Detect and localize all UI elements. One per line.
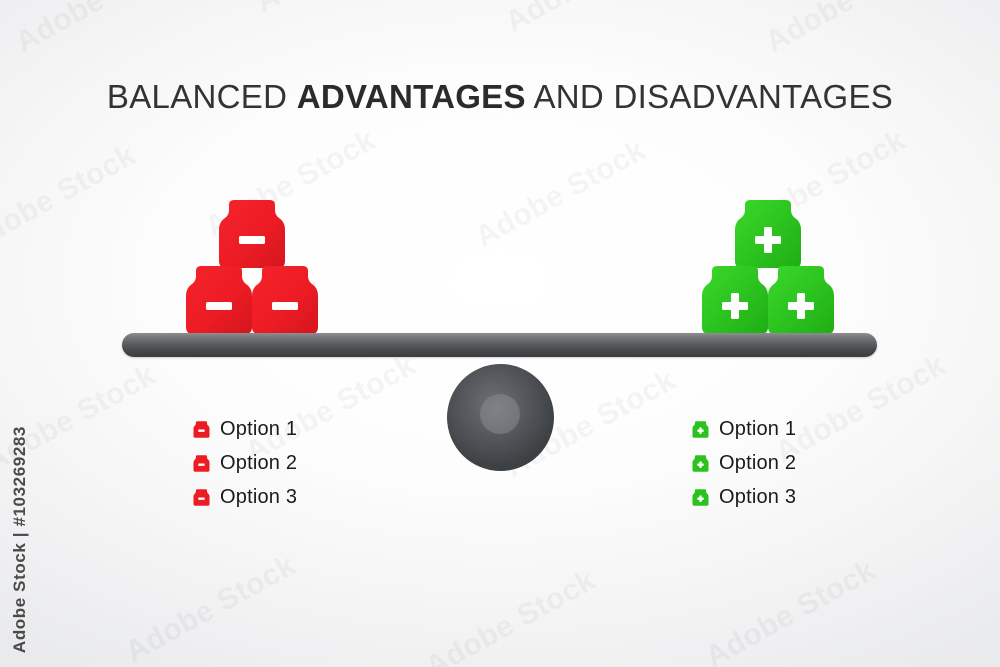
- disadvantages-weight-stack: [184, 200, 320, 334]
- watermark-tile: Adobe Stock: [10, 0, 192, 60]
- legend-item-label: Option 1: [220, 418, 297, 441]
- watermark-tile: Adobe Stock: [250, 0, 432, 20]
- stock-credit-watermark: Adobe Stock | #103269283: [10, 426, 30, 653]
- weight-minus-icon: [193, 455, 210, 472]
- legend-item[interactable]: Option 3: [193, 480, 297, 514]
- title-emphasis: ADVANTAGES: [297, 78, 526, 115]
- title-tail: AND DISADVANTAGES: [526, 78, 893, 115]
- weight-block-plus-bottom-right[interactable]: [766, 266, 836, 334]
- balance-beam: [122, 333, 877, 357]
- disadvantages-legend: Option 1 Option 2 Option 3: [193, 412, 297, 514]
- watermark-tile: Adobe Stock: [700, 553, 882, 667]
- fulcrum-core: [480, 394, 520, 434]
- weight-plus-icon: [692, 455, 709, 472]
- watermark-tile: Adobe Stock: [420, 563, 602, 667]
- weight-minus-icon: [193, 421, 210, 438]
- weight-block-minus-bottom-left[interactable]: [184, 266, 254, 334]
- weight-block-minus-top[interactable]: [217, 200, 287, 268]
- weight-block-minus-bottom-right[interactable]: [250, 266, 320, 334]
- watermark-tile: Adobe Stock: [500, 0, 682, 40]
- infographic-canvas: Adobe Stock Adobe Stock Adobe Stock Adob…: [0, 0, 1000, 667]
- legend-item-label: Option 2: [220, 452, 297, 475]
- watermark-tile: Adobe Stock: [120, 548, 302, 667]
- watermark-tile: Adobe Stock: [770, 348, 952, 469]
- legend-item-label: Option 3: [719, 486, 796, 509]
- legend-item[interactable]: Option 2: [692, 446, 796, 480]
- watermark-tile: Adobe Stock: [470, 133, 652, 254]
- legend-item-label: Option 3: [220, 486, 297, 509]
- weight-block-plus-top[interactable]: [733, 200, 803, 268]
- watermark-tile: Adobe Stock: [0, 138, 142, 259]
- legend-item-label: Option 2: [719, 452, 796, 475]
- watermark-tile: Adobe Stock: [760, 0, 942, 60]
- weight-plus-icon: [692, 421, 709, 438]
- title-lead: BALANCED: [107, 78, 297, 115]
- fulcrum-pivot: [447, 364, 554, 471]
- legend-item[interactable]: Option 1: [193, 412, 297, 446]
- legend-item[interactable]: Option 1: [692, 412, 796, 446]
- weight-block-plus-bottom-left[interactable]: [700, 266, 770, 334]
- advantages-legend: Option 1 Option 2 Option 3: [692, 412, 796, 514]
- advantages-weight-stack: [700, 200, 836, 334]
- weight-plus-icon: [692, 489, 709, 506]
- legend-item-label: Option 1: [719, 418, 796, 441]
- legend-item[interactable]: Option 2: [193, 446, 297, 480]
- legend-item[interactable]: Option 3: [692, 480, 796, 514]
- weight-minus-icon: [193, 489, 210, 506]
- page-title: BALANCED ADVANTAGES AND DISADVANTAGES: [0, 78, 1000, 116]
